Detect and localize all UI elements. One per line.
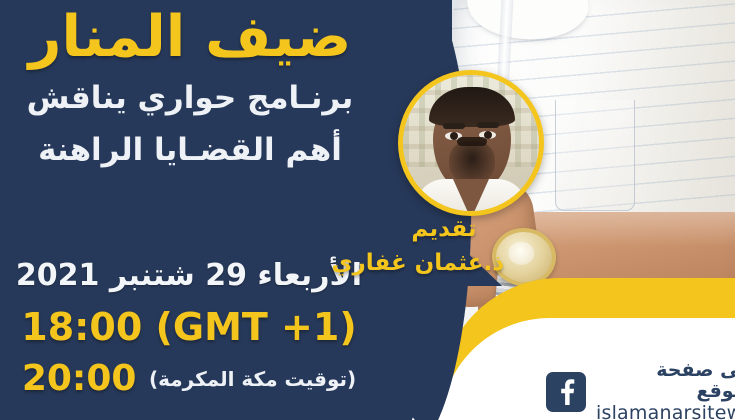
shirt-pocket-graphic (555, 100, 635, 211)
avatar-mustache (457, 137, 487, 146)
facebook-arabic-label: علـى صفحة الـموقع (596, 360, 735, 403)
subtitle-line-2: أهم القضـايا الراهنة (0, 132, 380, 169)
avatar-brow-right (477, 122, 499, 128)
presenter-label: تقديم (384, 216, 504, 242)
event-time-primary: (GMT +1) 18:00 (0, 305, 378, 349)
facebook-page-handle: islamanarsiteweb (596, 403, 735, 420)
presenter-name: ذ.عثمان غفاري (368, 250, 504, 276)
subtitle-line-1: برنـامج حواري يناقش (0, 80, 380, 117)
event-time-secondary-note: (توقيت مكة المكرمة) (149, 367, 356, 391)
event-time-secondary: 20:00 (22, 358, 137, 399)
event-date: الأربعاء 29 شتنبر 2021 (0, 258, 378, 293)
facebook-icon[interactable] (546, 372, 586, 412)
avatar (403, 75, 539, 211)
event-time-secondary-row: (توقيت مكة المكرمة) 20:00 (0, 358, 378, 399)
facebook-text-block: علـى صفحة الـموقع islamanarsiteweb (596, 360, 735, 420)
avatar-ring (398, 70, 544, 216)
page-title: ضيف المنار (0, 8, 380, 68)
watch-dial (507, 241, 535, 266)
facebook-footer[interactable]: علـى صفحة الـموقع islamanarsiteweb (546, 360, 735, 420)
poster-canvas: ضيف المنار برنـامج حواري يناقش أهم القضـ… (0, 0, 735, 420)
avatar-brow-left (443, 123, 465, 129)
